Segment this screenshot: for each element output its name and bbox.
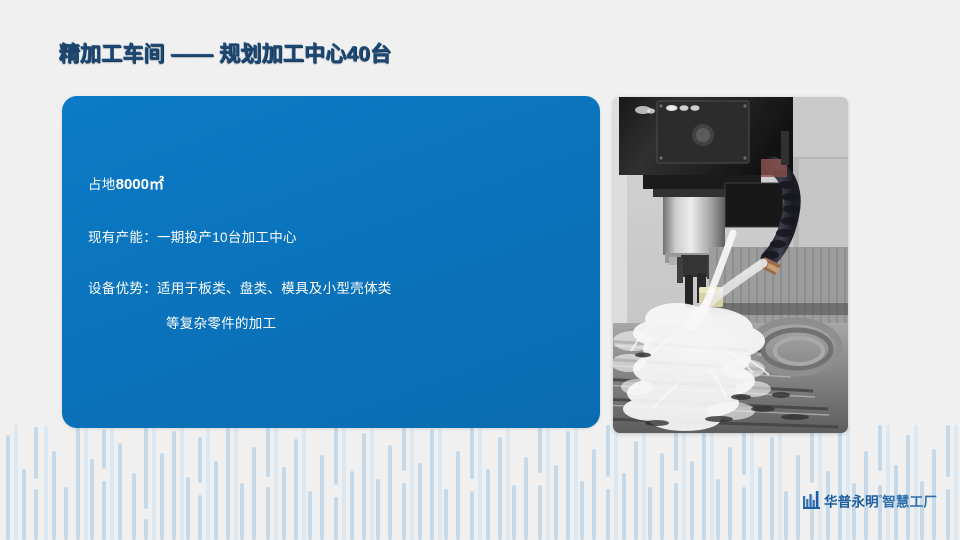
area-unit: ㎡: [149, 176, 164, 193]
vertical-bars-pattern: [0, 425, 960, 540]
brand-logo-text: 华普永明°智慧工厂: [824, 495, 937, 509]
panel-line-advantage-continued: 等复杂零件的加工: [88, 314, 582, 334]
brand-logo: 华普永明°智慧工厂: [803, 492, 937, 512]
panel-line-area: 占地8000㎡: [88, 174, 582, 196]
slide-canvas: 精加工车间 —— 规划加工中心40台 占地8000㎡ 现有产能：一期投产10台加…: [0, 0, 960, 540]
content-panel: 占地8000㎡ 现有产能：一期投产10台加工中心 设备优势：适用于板类、盘类、模…: [62, 96, 600, 428]
brand-name: 华普永明: [824, 495, 879, 510]
page-title: 精加工车间 —— 规划加工中心40台: [59, 38, 392, 68]
panel-line-capacity: 现有产能：一期投产10台加工中心: [88, 228, 582, 248]
area-value: 8000: [116, 176, 149, 193]
content-panel-text: 占地8000㎡ 现有产能：一期投产10台加工中心 设备优势：适用于板类、盘类、模…: [88, 174, 582, 333]
brand-tagline: 智慧工厂: [882, 495, 937, 510]
cnc-machining-center-photo: [613, 97, 848, 433]
panel-line-advantage: 设备优势：适用于板类、盘类、模具及小型壳体类: [88, 279, 582, 299]
area-prefix: 占地: [88, 177, 116, 192]
factory-bars-mark: [803, 491, 820, 514]
